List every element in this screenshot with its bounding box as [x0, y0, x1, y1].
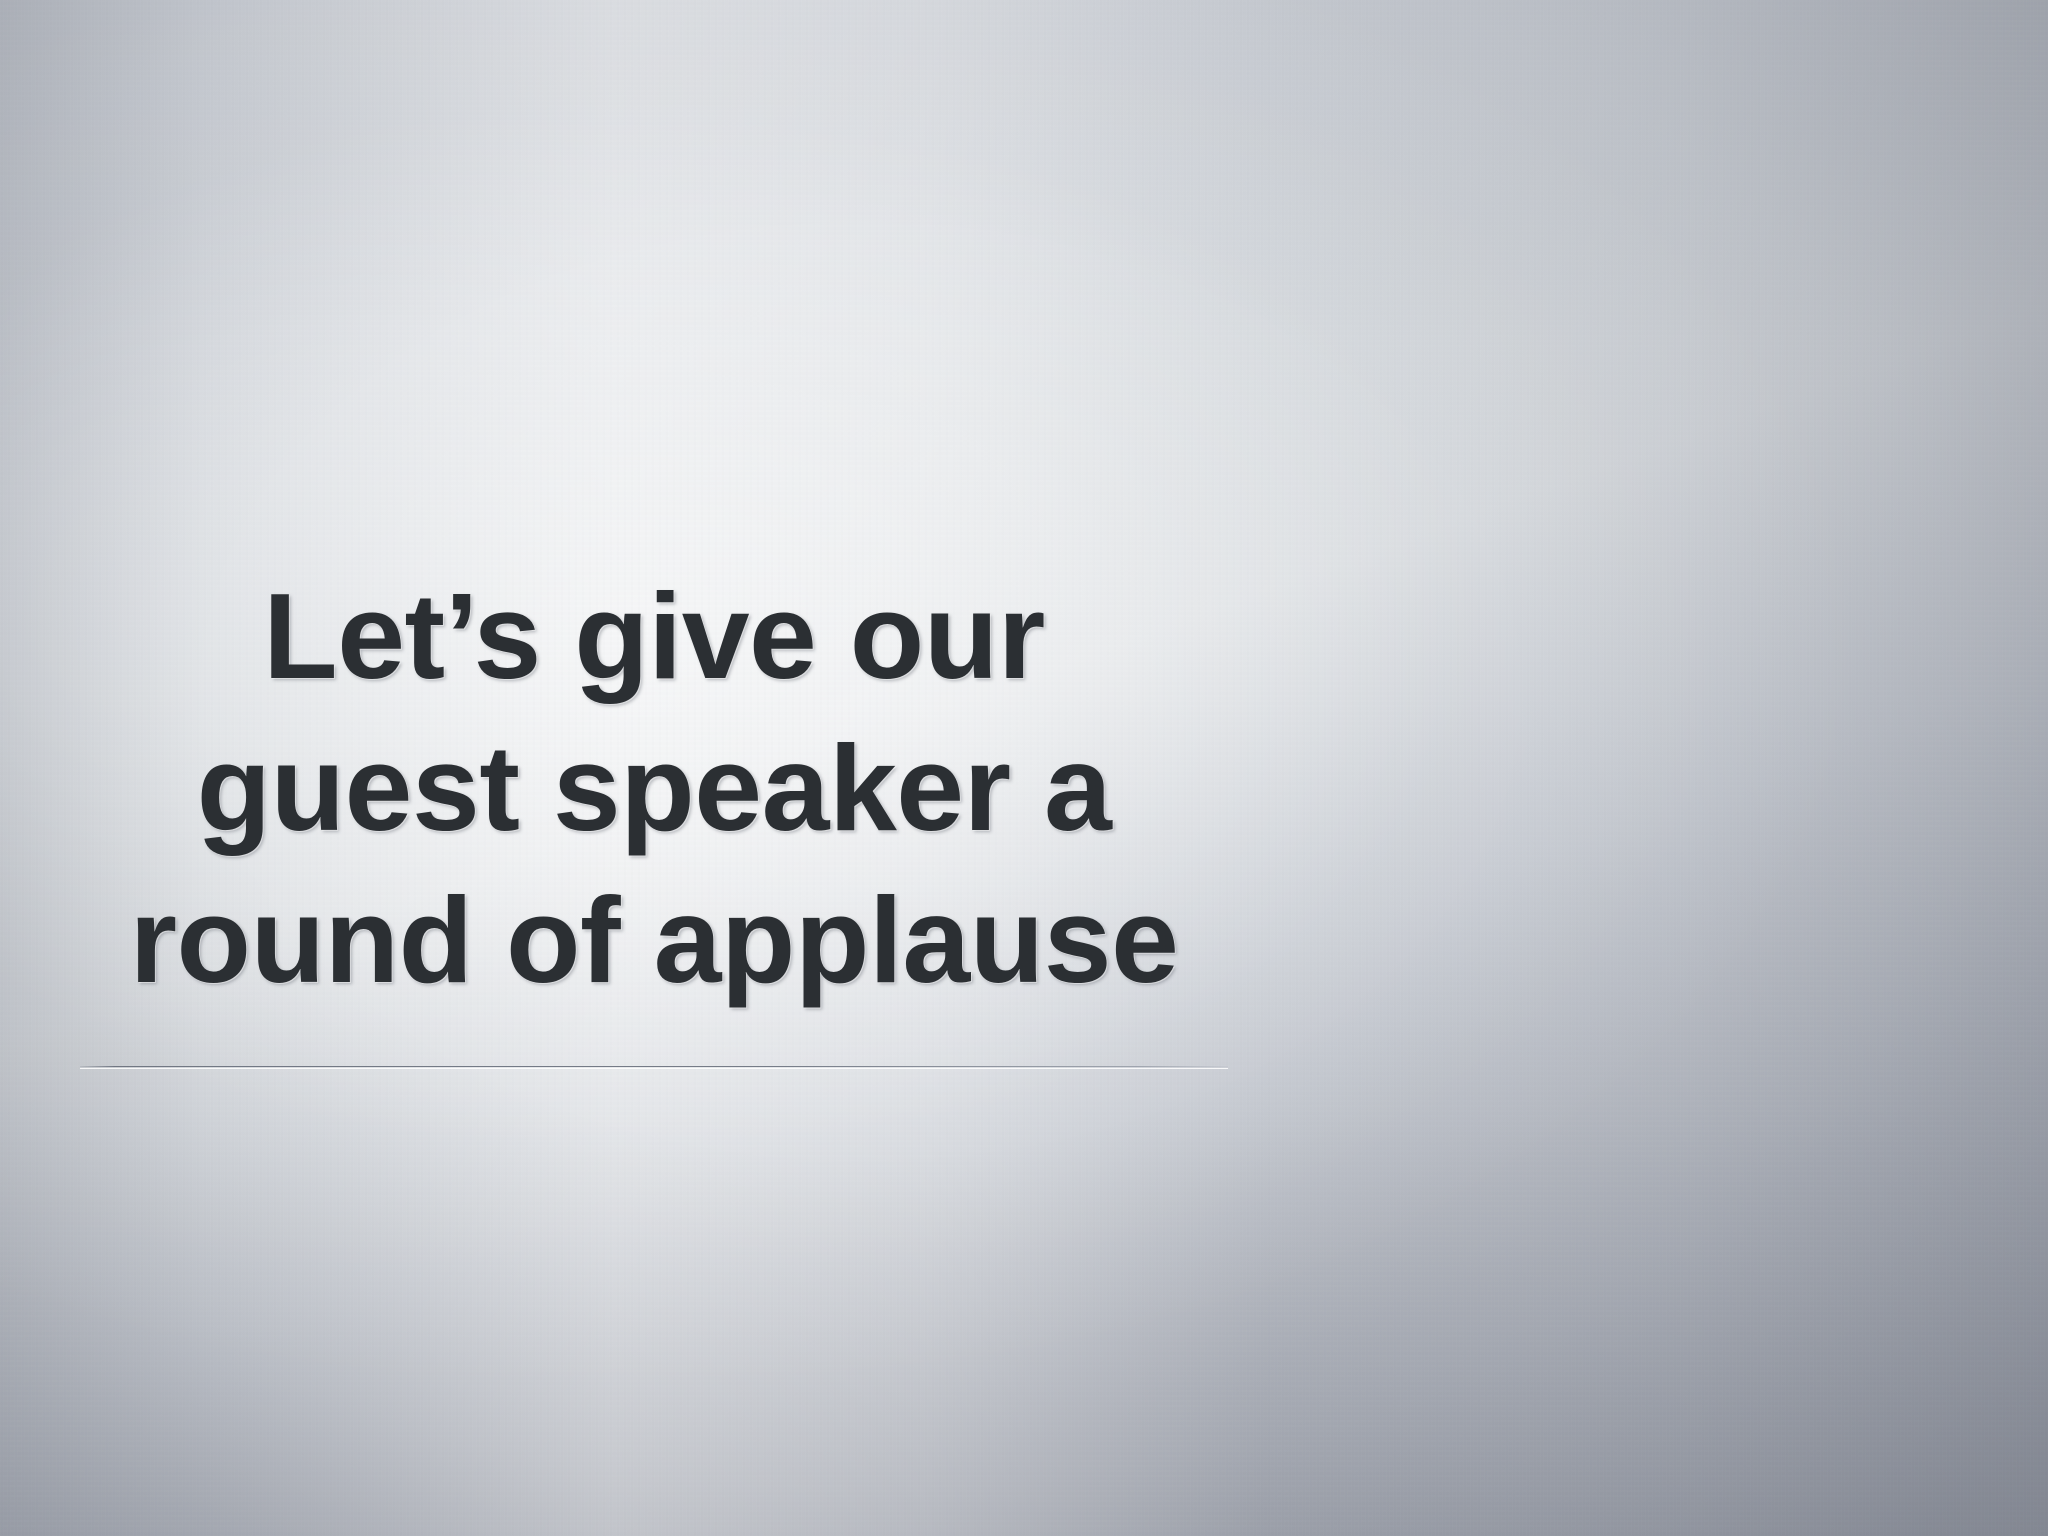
presentation-slide: Let’s give our guest speaker a round of …: [0, 0, 2048, 1536]
title-block: Let’s give our guest speaker a round of …: [80, 560, 1228, 1016]
page-title: Let’s give our guest speaker a round of …: [80, 560, 1228, 1016]
title-divider: [80, 1066, 1228, 1067]
